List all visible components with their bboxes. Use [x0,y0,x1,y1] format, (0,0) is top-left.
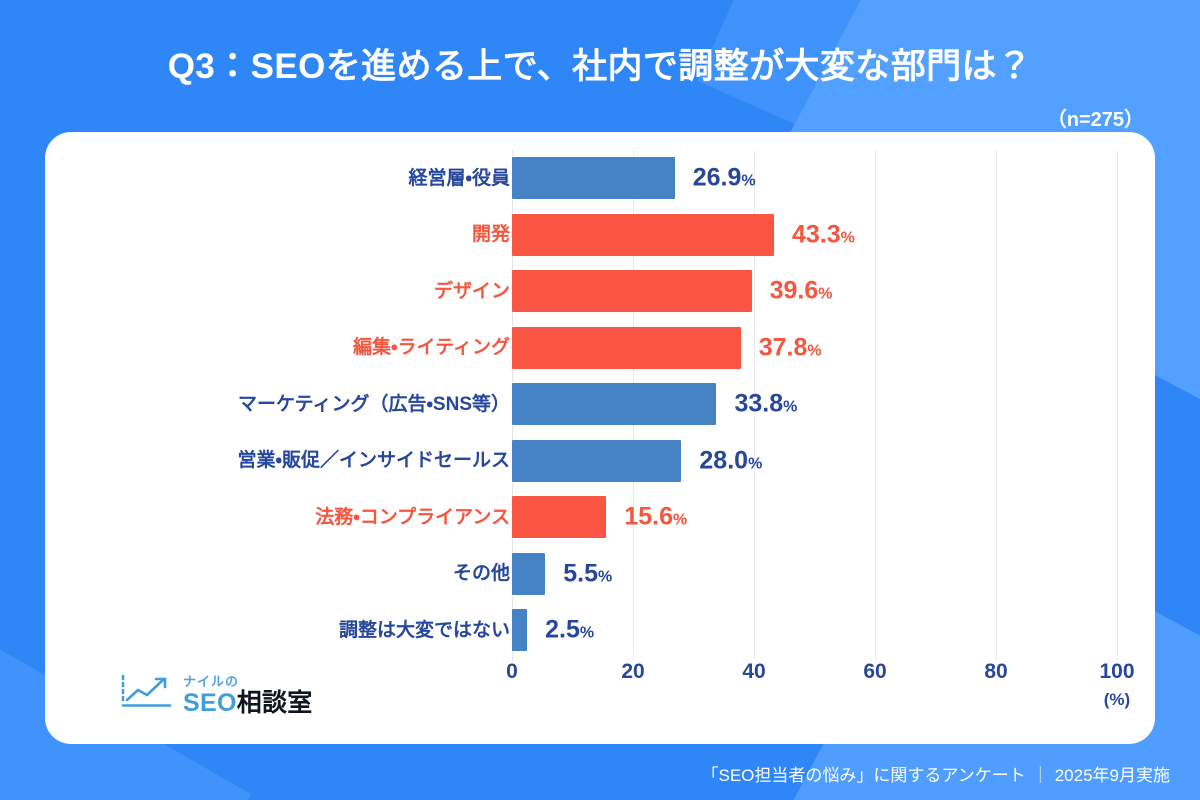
bar-track [512,383,716,425]
category-label: マーケティング（広告・SNS等） [90,395,510,414]
brand-logo-seo: SEO [183,689,237,717]
bar-value-number: 15.6 [624,503,673,531]
bar-track [512,496,606,538]
sample-size-label: （n=275） [0,89,1200,132]
bar-row: 法務・コンプライアンス15.6% [45,489,1155,546]
bar[interactable] [512,327,741,369]
bar-value-label: 33.8% [734,392,797,417]
percent-sign: % [580,625,594,642]
brand-logo-kana: ナイルの [183,675,313,688]
bar-track [512,553,545,595]
category-label: 営業・販促／インサイドセールス [90,451,510,470]
bar-track [512,440,681,482]
percent-sign: % [807,342,821,359]
bar-value-number: 26.9 [693,164,742,192]
bar-row: 営業・販促／インサイドセールス28.0% [45,433,1155,490]
x-axis-tick: 60 [863,660,886,684]
bar-value-label: 39.6% [770,279,833,304]
bar-value-number: 39.6 [770,277,819,305]
bar-track [512,214,774,256]
bar-value-label: 15.6% [624,505,687,530]
bar-value-label: 2.5% [545,618,594,643]
x-axis-tick: 20 [621,660,644,684]
bar-row: 開発43.3% [45,207,1155,264]
bar[interactable] [512,214,774,256]
bar-track [512,270,752,312]
percent-sign: % [741,173,755,190]
bar-track [512,327,741,369]
bar-track [512,157,675,199]
footer-source: 「SEO担当者の悩み」に関するアンケート｜2025年9月実施 [701,761,1170,786]
bar-value-number: 2.5 [545,616,580,644]
bar[interactable] [512,609,527,651]
x-axis-tick: 100 [1099,660,1134,684]
chart-canvas: Q3：SEOを進める上で、社内で調整が大変な部門は？ （n=275） 経営層・役… [0,0,1200,800]
percent-sign: % [841,229,855,246]
bar-row: デザイン39.6% [45,263,1155,320]
category-label: 法務・コンプライアンス [90,508,510,527]
footer-survey-name: 「SEO担当者の悩み」に関するアンケート [701,766,1025,785]
bar-value-label: 37.8% [759,335,822,360]
bar-value-number: 37.8 [759,333,808,361]
percent-sign: % [598,568,612,585]
percent-sign: % [783,399,797,416]
bar[interactable] [512,553,545,595]
bar-row: 経営層・役員26.9% [45,150,1155,207]
x-axis-tick: 40 [742,660,765,684]
brand-logo-jp: 相談室 [237,689,313,717]
bar-value-number: 28.0 [699,446,748,474]
bar-row: 調整は大変ではない2.5% [45,602,1155,659]
line-chart-arrow-icon [120,671,174,716]
percent-sign: % [748,455,762,472]
bar-value-number: 5.5 [563,559,598,587]
x-axis-unit-label: (%) [1104,690,1130,710]
bar-value-label: 43.3% [792,222,855,247]
category-label: 経営層・役員 [90,169,510,188]
category-label: 編集・ライティング [90,338,510,357]
bar[interactable] [512,496,606,538]
bar-chart-plot: 経営層・役員26.9%開発43.3%デザイン39.6%編集・ライティング37.8… [45,132,1155,744]
category-label: デザイン [90,282,510,301]
bar-row: 編集・ライティング37.8% [45,320,1155,377]
page-title: Q3：SEOを進める上で、社内で調整が大変な部門は？ [0,0,1200,89]
bar-value-label: 26.9% [693,166,756,191]
bar-value-label: 5.5% [563,561,612,586]
bar-value-number: 33.8 [734,390,783,418]
brand-logo-text: ナイルの SEO相談室 [183,675,313,716]
bar[interactable] [512,383,716,425]
brand-logo: ナイルの SEO相談室 [120,671,313,716]
bar-value-label: 28.0% [699,448,762,473]
category-label: 開発 [90,225,510,244]
chart-header: Q3：SEOを進める上で、社内で調整が大変な部門は？ （n=275） [0,0,1200,132]
bar-track [512,609,527,651]
bar-value-number: 43.3 [792,220,841,248]
category-label: 調整は大変ではない [90,621,510,640]
x-axis-tick: 0 [506,660,518,684]
category-label: その他 [90,564,510,583]
bar-row: マーケティング（広告・SNS等）33.8% [45,376,1155,433]
percent-sign: % [818,286,832,303]
bar[interactable] [512,270,752,312]
footer-separator: ｜ [1026,766,1055,785]
bar[interactable] [512,440,681,482]
bar-row: その他5.5% [45,546,1155,603]
footer-date: 2025年9月実施 [1055,766,1170,785]
bar-rows: 経営層・役員26.9%開発43.3%デザイン39.6%編集・ライティング37.8… [45,150,1155,659]
bar[interactable] [512,157,675,199]
percent-sign: % [673,512,687,529]
x-axis-tick: 80 [984,660,1007,684]
chart-card: 経営層・役員26.9%開発43.3%デザイン39.6%編集・ライティング37.8… [45,132,1155,744]
